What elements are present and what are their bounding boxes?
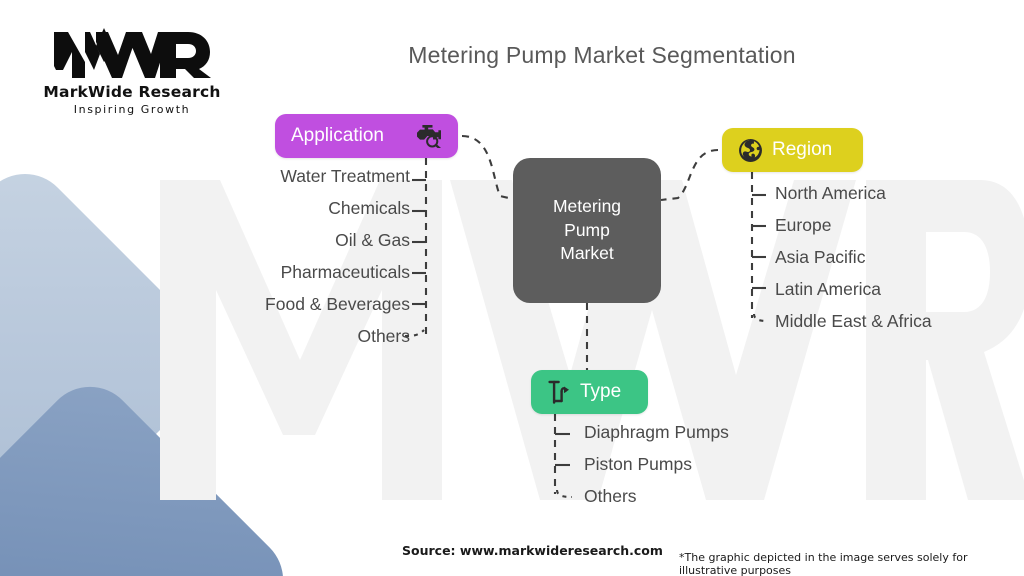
badge-application[interactable]: Application <box>275 114 458 158</box>
page-title: Metering Pump Market Segmentation <box>312 42 892 69</box>
badge-type[interactable]: Type <box>531 370 648 414</box>
logo-mark-mwr <box>52 28 212 82</box>
badge-type-label: Type <box>580 381 621 403</box>
hand-pump-icon <box>547 379 571 405</box>
list-item[interactable]: Diaphragm Pumps <box>584 424 729 442</box>
badge-application-label: Application <box>291 125 384 147</box>
center-node-label: MeteringPumpMarket <box>553 195 621 266</box>
stub-type-3 <box>557 490 572 497</box>
list-item[interactable]: Latin America <box>775 281 932 299</box>
list-type: Diaphragm Pumps Piston Pumps Others <box>584 424 729 520</box>
list-item[interactable]: Oil & Gas <box>100 232 410 250</box>
brand-logo: MarkWide Research Inspiring Growth <box>22 28 242 116</box>
list-item[interactable]: Pharmaceuticals <box>100 264 410 282</box>
globe-icon <box>738 138 763 163</box>
infographic-canvas: MarkWide Research Inspiring Growth Meter… <box>0 0 1024 576</box>
list-item[interactable]: North America <box>775 185 932 203</box>
list-item[interactable]: Middle East & Africa <box>775 313 932 331</box>
list-application: Water Treatment Chemicals Oil & Gas Phar… <box>100 168 410 361</box>
source-label: Source: www.markwideresearch.com <box>402 543 663 558</box>
list-item[interactable]: Others <box>100 328 410 346</box>
center-node[interactable]: MeteringPumpMarket <box>513 158 661 303</box>
connector-application-to-center <box>462 136 513 199</box>
logo-tagline: Inspiring Growth <box>22 103 242 116</box>
list-item[interactable]: Europe <box>775 217 932 235</box>
list-item[interactable]: Chemicals <box>100 200 410 218</box>
disclaimer-label: *The graphic depicted in the image serve… <box>679 551 1024 576</box>
badge-region[interactable]: Region <box>722 128 863 172</box>
connector-region-to-center <box>661 150 718 200</box>
list-item[interactable]: Others <box>584 488 729 506</box>
stub-region-5 <box>754 314 768 321</box>
badge-region-label: Region <box>772 139 832 161</box>
logo-company-name: MarkWide Research <box>22 83 242 101</box>
list-item[interactable]: Food & Beverages <box>100 296 410 314</box>
engine-search-icon <box>416 124 442 148</box>
list-region: North America Europe Asia Pacific Latin … <box>775 185 932 345</box>
list-item[interactable]: Water Treatment <box>100 168 410 186</box>
list-item[interactable]: Piston Pumps <box>584 456 729 474</box>
list-item[interactable]: Asia Pacific <box>775 249 932 267</box>
